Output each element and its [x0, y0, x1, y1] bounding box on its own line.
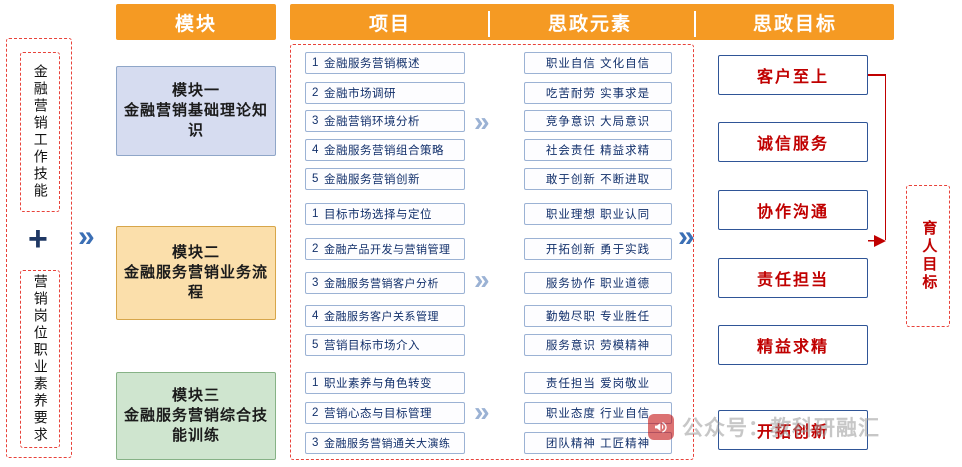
element-1-4[interactable]: 社会责任 精益求精 [524, 139, 672, 161]
right-goal-panel: 育人目标 [906, 185, 950, 327]
watermark: 公众号：教科研融汇 [648, 412, 880, 442]
header-module: 模块 [116, 4, 276, 40]
left-skills-bottom-box: 营销岗位职业素养要求 [20, 270, 60, 448]
module-1-name: 模块一 [172, 81, 220, 101]
project-item-1-4-label: 金融服务营销组合策略 [324, 142, 444, 158]
plus-sign: + [28, 222, 48, 256]
project-item-1-1-num: 1 [312, 57, 324, 69]
project-item-2-2-num: 2 [312, 243, 324, 255]
project-item-2-4[interactable]: 4 金融服务客户关系管理 [305, 305, 465, 327]
project-item-2-1-num: 1 [312, 208, 324, 220]
goal-box-2[interactable]: 诚信服务 [718, 122, 868, 162]
connector-line-horizontal [868, 74, 886, 76]
header-ideology-elements: 思政元素 [490, 4, 690, 40]
diagram-root: 金融营销工作技能 + 营销岗位职业素养要求 » 模块 项目 思政元素 思政目标 … [0, 0, 962, 467]
project-item-1-5-num: 5 [312, 173, 324, 185]
element-1-5[interactable]: 敢于创新 不断进取 [524, 168, 672, 190]
goal-box-3[interactable]: 协作沟通 [718, 190, 868, 230]
module-box-1[interactable]: 模块一 金融营销基础理论知识 [116, 66, 276, 156]
element-2-2[interactable]: 开拓创新 勇于实践 [524, 238, 672, 260]
project-item-1-5-label: 金融服务营销创新 [324, 171, 420, 187]
left-skills-top-box: 金融营销工作技能 [20, 52, 60, 212]
project-item-1-1[interactable]: 1 金融服务营销概述 [305, 52, 465, 74]
project-item-2-4-num: 4 [312, 310, 324, 322]
element-2-1[interactable]: 职业理想 职业认同 [524, 203, 672, 225]
project-item-1-5[interactable]: 5 金融服务营销创新 [305, 168, 465, 190]
megaphone-icon [648, 414, 674, 440]
module-3-title: 金融服务营销综合技能训练 [117, 406, 275, 447]
element-2-5[interactable]: 服务意识 劳模精神 [524, 334, 672, 356]
project-item-1-3-num: 3 [312, 115, 324, 127]
project-item-3-1-num: 1 [312, 377, 324, 389]
connector-line-vertical [885, 74, 887, 240]
project-item-3-1[interactable]: 1 职业素养与角色转变 [305, 372, 465, 394]
element-3-1[interactable]: 责任担当 爱岗敬业 [524, 372, 672, 394]
module-3-name: 模块三 [172, 386, 220, 406]
goal-box-1[interactable]: 客户至上 [718, 55, 868, 95]
project-item-2-2[interactable]: 2 金融产品开发与营销管理 [305, 238, 465, 260]
header-project: 项目 [290, 4, 490, 40]
chevron-right-icon-left: » [78, 222, 95, 252]
watermark-text: 公众号：教科研融汇 [682, 412, 880, 442]
header-bar-right: 项目 思政元素 思政目标 [290, 4, 894, 40]
project-item-1-3[interactable]: 3 金融营销环境分析 [305, 110, 465, 132]
project-item-2-1[interactable]: 1 目标市场选择与定位 [305, 203, 465, 225]
project-item-3-3[interactable]: 3 金融服务营销通关大演练 [305, 432, 465, 454]
project-item-2-5[interactable]: 5 营销目标市场介入 [305, 334, 465, 356]
module-1-title: 金融营销基础理论知识 [117, 101, 275, 142]
chevron-right-icon-group-3: » [474, 398, 490, 426]
project-item-1-3-label: 金融营销环境分析 [324, 113, 420, 129]
left-skills-bottom-label: 营销岗位职业素养要求 [31, 274, 49, 444]
project-item-3-2[interactable]: 2 营销心态与目标管理 [305, 402, 465, 424]
project-item-1-1-label: 金融服务营销概述 [324, 55, 420, 71]
connector-arrow-icon [868, 234, 886, 248]
module-2-name: 模块二 [172, 243, 220, 263]
project-item-1-4-num: 4 [312, 144, 324, 156]
module-2-title: 金融服务营销业务流程 [117, 263, 275, 304]
element-2-4[interactable]: 勤勉尽职 专业胜任 [524, 305, 672, 327]
project-item-2-3-label: 金融服务营销客户分析 [324, 275, 439, 291]
element-1-1[interactable]: 职业自信 文化自信 [524, 52, 672, 74]
right-goal-label: 育人目标 [919, 220, 938, 292]
module-box-2[interactable]: 模块二 金融服务营销业务流程 [116, 226, 276, 320]
left-skills-top-label: 金融营销工作技能 [31, 64, 49, 200]
element-1-2[interactable]: 吃苦耐劳 实事求是 [524, 82, 672, 104]
project-item-1-2-label: 金融市场调研 [324, 85, 396, 101]
element-2-3[interactable]: 服务协作 职业道德 [524, 272, 672, 294]
element-1-3[interactable]: 竞争意识 大局意识 [524, 110, 672, 132]
project-item-2-4-label: 金融服务客户关系管理 [324, 308, 439, 324]
project-item-3-2-label: 营销心态与目标管理 [324, 405, 432, 421]
project-item-3-2-num: 2 [312, 407, 324, 419]
project-item-1-2[interactable]: 2 金融市场调研 [305, 82, 465, 104]
project-item-1-4[interactable]: 4 金融服务营销组合策略 [305, 139, 465, 161]
project-item-2-5-num: 5 [312, 339, 324, 351]
module-box-3[interactable]: 模块三 金融服务营销综合技能训练 [116, 372, 276, 460]
goal-box-4[interactable]: 责任担当 [718, 258, 868, 298]
header-ideology-goals: 思政目标 [696, 4, 894, 40]
project-item-2-5-label: 营销目标市场介入 [324, 337, 420, 353]
chevron-right-icon-group-1: » [474, 108, 490, 136]
project-item-3-3-num: 3 [312, 437, 324, 449]
chevron-right-icon-goals: » [678, 222, 695, 252]
project-item-1-2-num: 2 [312, 87, 324, 99]
project-item-3-3-label: 金融服务营销通关大演练 [324, 435, 451, 451]
project-item-2-3-num: 3 [312, 277, 324, 289]
goal-box-5[interactable]: 精益求精 [718, 325, 868, 365]
project-item-2-2-label: 金融产品开发与营销管理 [324, 241, 451, 257]
project-item-3-1-label: 职业素养与角色转变 [324, 375, 432, 391]
project-item-2-3[interactable]: 3 金融服务营销客户分析 [305, 272, 465, 294]
project-item-2-1-label: 目标市场选择与定位 [324, 206, 432, 222]
chevron-right-icon-group-2: » [474, 266, 490, 294]
